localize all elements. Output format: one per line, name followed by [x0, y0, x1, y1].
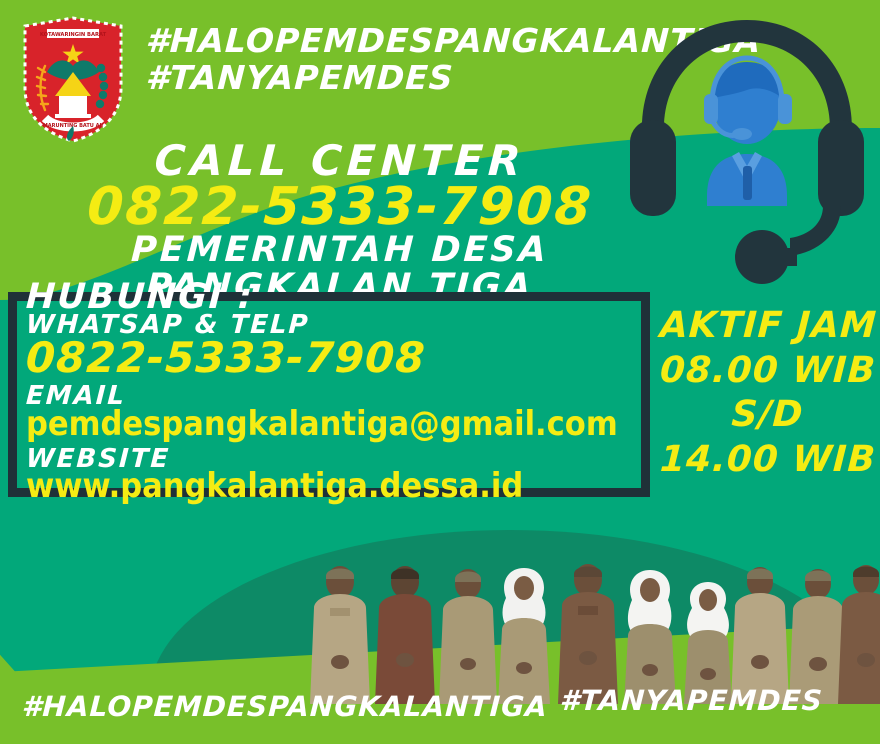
- contact-label-website: WEBSITE: [25, 446, 646, 473]
- active-hours-title: AKTIF JAM: [659, 308, 876, 345]
- active-hours-open: 08.00 WIB: [659, 353, 876, 390]
- active-hours-close: 14.00 WIB: [659, 442, 876, 479]
- call-center-number: 0822-5333-7908: [0, 181, 681, 234]
- contact-value-website[interactable]: www.pangkalantiga.dessa.id: [26, 469, 646, 504]
- kotawaringin-barat-crest-icon: KOTAWARINGIN BARAT MARUNTING BATU AJI: [17, 14, 129, 144]
- footer-hashtag-secondary: #TANYAPEMDES: [559, 687, 823, 716]
- contact-label-email: EMAIL: [25, 383, 646, 410]
- person: [838, 565, 880, 704]
- person: [375, 566, 435, 704]
- contact-heading: HUBUNGI :: [25, 280, 255, 316]
- contact-details: WHATSAP & TELP 0822-5333-7908 EMAIL pemd…: [26, 312, 646, 504]
- contact-value-email[interactable]: pemdespangkalantiga@gmail.com: [26, 407, 646, 442]
- svg-text:KOTAWARINGIN BARAT: KOTAWARINGIN BARAT: [40, 32, 107, 38]
- person: [310, 566, 370, 704]
- footer-hashtag-primary: #HALOPEMDESPANGKALANTIGA: [21, 693, 548, 722]
- contact-value-whatsapp[interactable]: 0822-5333-7908: [25, 337, 647, 380]
- active-hours-separator: S/D: [659, 397, 876, 434]
- person: [439, 569, 497, 704]
- person: [558, 564, 618, 704]
- active-hours-block: AKTIF JAM 08.00 WIB S/D 14.00 WIB: [660, 308, 875, 487]
- call-center-org-line-1: PEMERINTAH DESA: [0, 233, 681, 269]
- village-officials-group-photo: [300, 552, 880, 704]
- poster-canvas: KOTAWARINGIN BARAT MARUNTING BATU AJI #H…: [0, 0, 880, 744]
- person: [498, 568, 550, 704]
